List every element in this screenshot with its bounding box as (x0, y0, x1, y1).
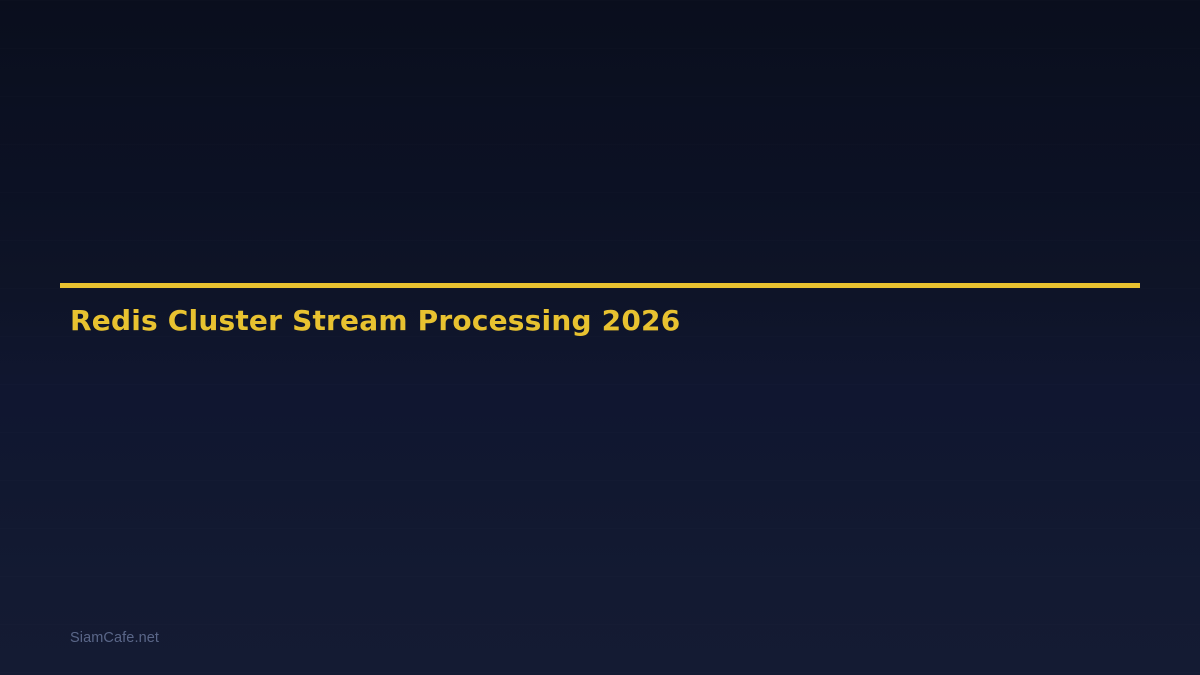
footer-branding: SiamCafe.net (70, 630, 159, 647)
presentation-slide: Redis Cluster Stream Processing 2026 Sia… (0, 0, 1200, 675)
slide-title: Redis Cluster Stream Processing 2026 (70, 305, 680, 337)
title-block: Redis Cluster Stream Processing 2026 (60, 283, 1140, 288)
accent-rule (60, 283, 1140, 288)
